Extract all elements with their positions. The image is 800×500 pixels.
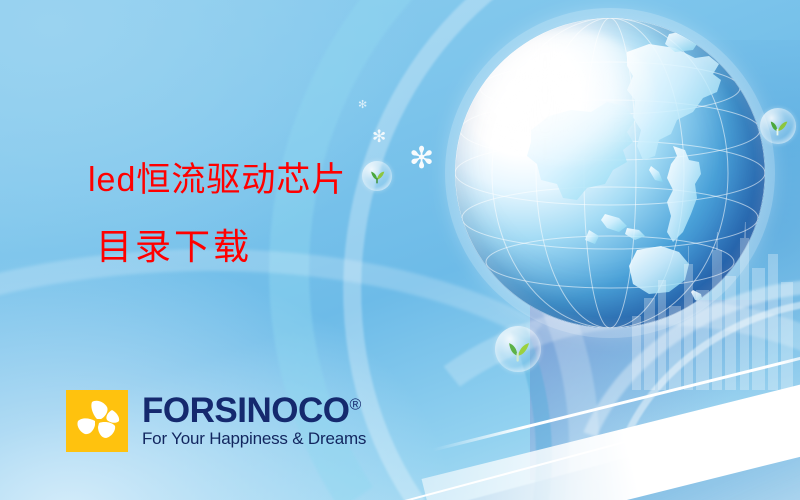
green-leaf-icon (366, 165, 388, 187)
city-skyline-silhouette (620, 220, 800, 390)
sparkle-c: ✻ (358, 100, 367, 111)
ribbon-blue-band (292, 372, 800, 500)
headline-line-2: 目录下载 (96, 230, 252, 266)
sparkle-a: ✻ (409, 144, 434, 174)
ribbon-white-wide (315, 487, 800, 500)
bubble-small-left (362, 161, 392, 191)
company-logo: FORSINOCO® For Your Happiness & Dreams (66, 390, 366, 452)
sparkle-b: ✻ (372, 128, 386, 145)
headline-line-1: led恒流驱动芯片 (88, 163, 346, 197)
logo-wordmark: FORSINOCO® (142, 393, 366, 428)
bubble-large-bottom (495, 326, 541, 372)
logo-tagline: For Your Happiness & Dreams (142, 429, 366, 449)
headline-cjk-part: 恒流驱动芯片 (136, 160, 346, 200)
logo-wordmark-text: FORSINOCO (142, 391, 349, 430)
ribbon-dark-accent (319, 478, 800, 500)
four-petal-flower-icon (66, 390, 128, 452)
registered-trademark-icon: ® (349, 397, 360, 414)
headline-latin-part: led (88, 161, 136, 199)
green-sprout-icon (501, 332, 535, 366)
ribbon-white-thin-2 (319, 378, 800, 500)
promo-banner: ✻ ✻ ✻ led恒流驱动芯片 目录下载 (0, 0, 800, 500)
logo-text-block: FORSINOCO® For Your Happiness & Dreams (142, 393, 366, 449)
bubble-right-edge (760, 108, 796, 144)
globe-highlight (477, 30, 657, 166)
logo-mark-icon (66, 390, 128, 452)
green-leaf-icon (765, 113, 791, 139)
background-wash-bottom-left (0, 250, 460, 500)
